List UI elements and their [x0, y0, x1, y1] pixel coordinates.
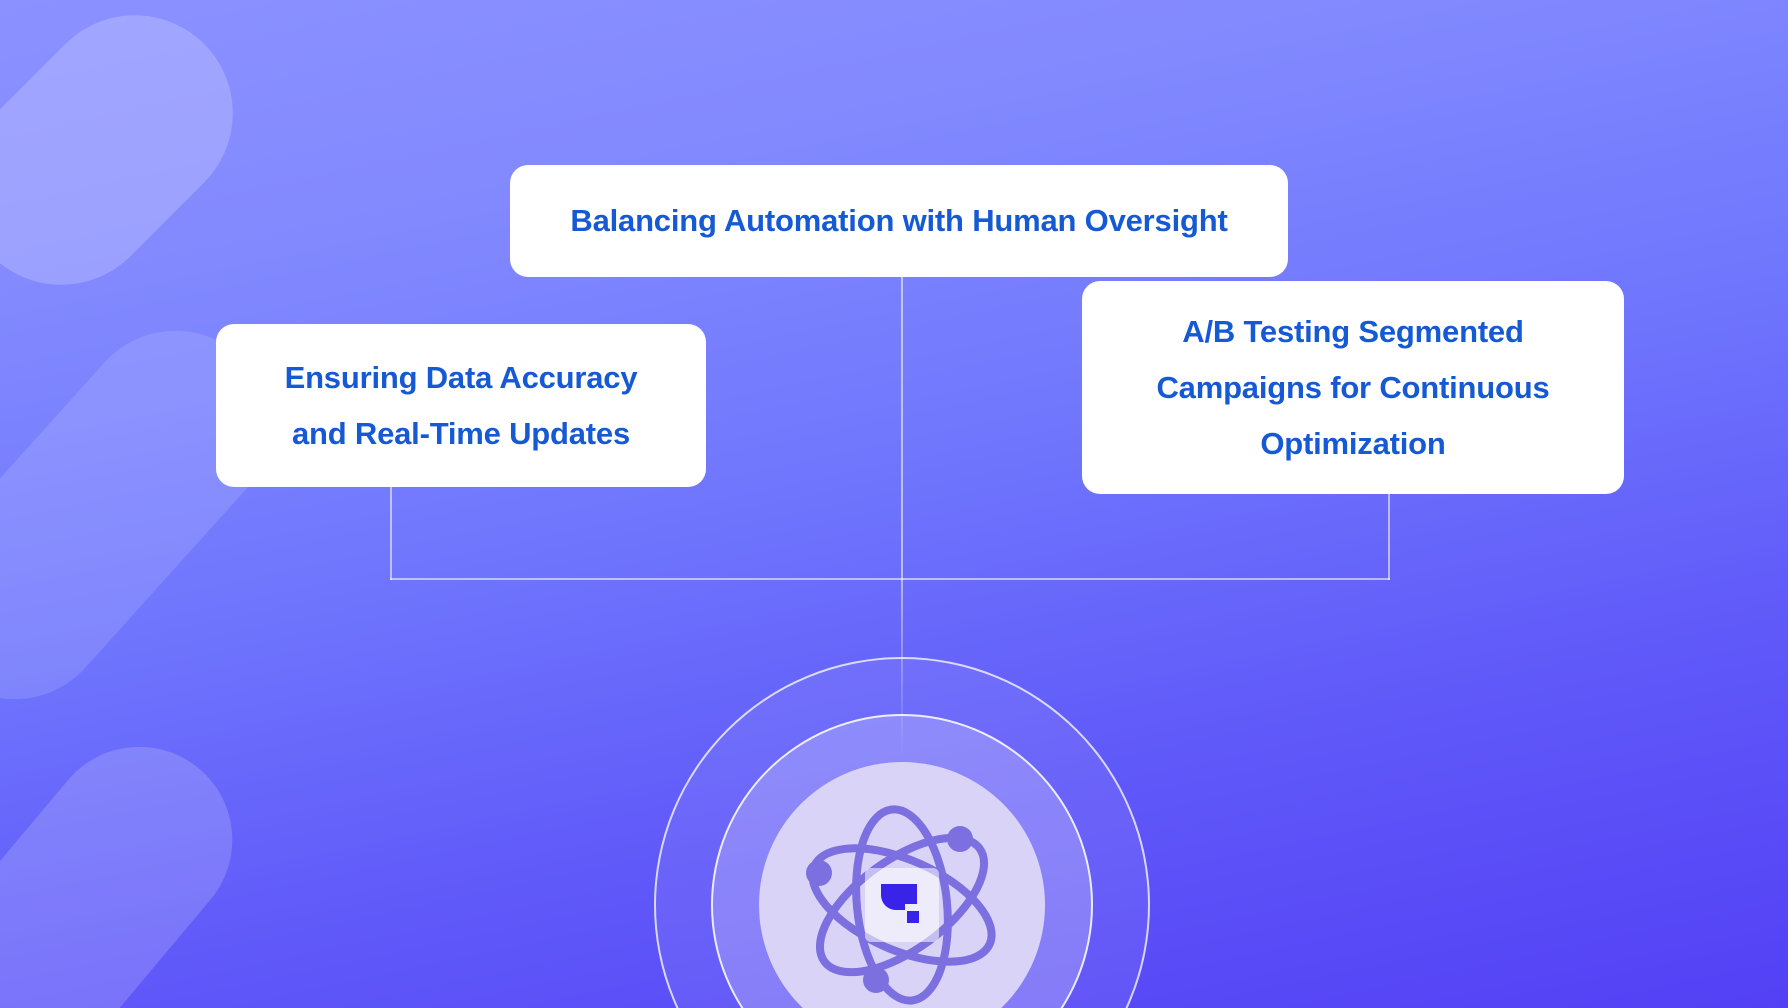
node-card-top-label: Balancing Automation with Human Oversigh…	[570, 203, 1227, 239]
brand-logo-icon	[875, 878, 929, 932]
node-card-left-line1: Ensuring Data Accuracy	[285, 360, 638, 395]
connector-top-vertical	[901, 275, 903, 580]
connector-left-vertical	[390, 487, 392, 580]
deco-shape-top-right-3	[0, 709, 270, 1008]
node-card-right[interactable]: A/B Testing Segmented Campaigns for Cont…	[1082, 281, 1624, 494]
node-card-left-line2: and Real-Time Updates	[292, 416, 630, 451]
diagram-canvas: Balancing Automation with Human Oversigh…	[0, 0, 1788, 1008]
connector-right-vertical	[1388, 494, 1390, 580]
atom-hub[interactable]	[642, 645, 1162, 1008]
node-card-right-line3: Optimization	[1260, 426, 1445, 461]
background-decoration	[0, 0, 196, 1008]
deco-shape-top-right-1	[0, 0, 273, 325]
node-card-right-line1: A/B Testing Segmented	[1182, 314, 1523, 349]
connector-horizontal-rail	[390, 578, 1390, 580]
node-card-left[interactable]: Ensuring Data Accuracy and Real-Time Upd…	[216, 324, 706, 487]
node-card-right-label: A/B Testing Segmented Campaigns for Cont…	[1156, 304, 1549, 472]
node-card-top[interactable]: Balancing Automation with Human Oversigh…	[510, 165, 1288, 277]
node-card-right-line2: Campaigns for Continuous	[1156, 370, 1549, 405]
node-card-left-label: Ensuring Data Accuracy and Real-Time Upd…	[285, 350, 638, 462]
